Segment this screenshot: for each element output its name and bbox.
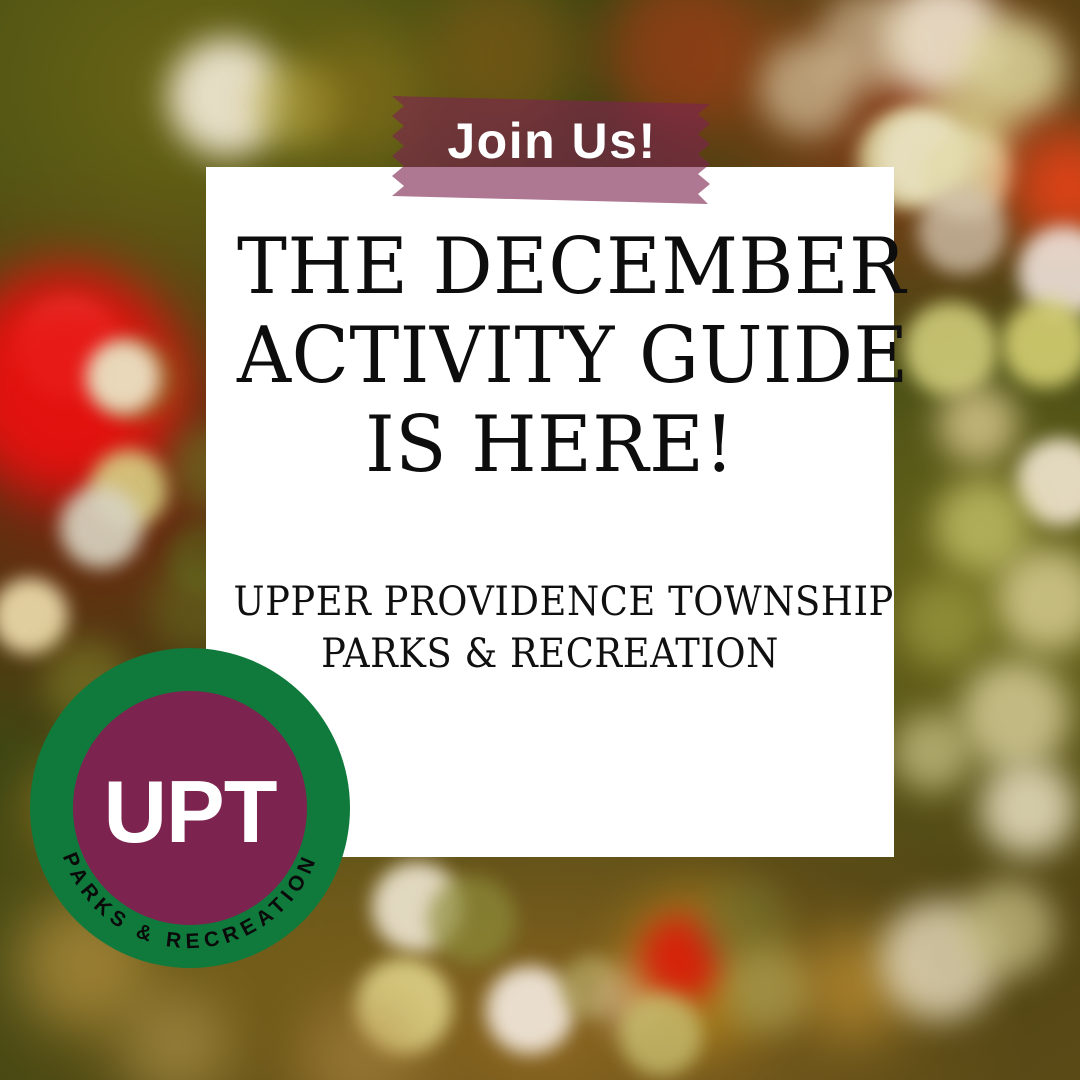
bokeh-circle: [904, 302, 998, 396]
headline-line-1: THE DECEMBER: [237, 223, 863, 312]
card-content: THE DECEMBER ACTIVITY GUIDE IS HERE! UPP…: [206, 223, 894, 680]
bokeh-circle: [918, 186, 1006, 274]
ribbon-label: Join Us!: [378, 112, 726, 170]
bokeh-circle: [428, 876, 516, 964]
bokeh-circle: [86, 340, 160, 414]
bokeh-circle: [0, 578, 68, 654]
bokeh-circle: [60, 486, 142, 568]
bokeh-circle: [980, 760, 1076, 856]
headline-line-3: IS HERE!: [237, 401, 863, 490]
bokeh-circle: [900, 580, 986, 666]
bokeh-circle: [960, 660, 1070, 770]
bokeh-circle: [960, 880, 1056, 976]
bokeh-circle: [120, 990, 230, 1080]
logo-arc-text-wrap: PARKS & RECREATION: [30, 648, 350, 968]
bokeh-circle: [938, 384, 1018, 464]
subhead-line-1: UPPER PROVIDENCE TOWNSHIP: [234, 576, 867, 628]
bokeh-circle: [620, 994, 702, 1076]
bokeh-circle: [1002, 300, 1080, 388]
bokeh-circle: [892, 712, 972, 792]
logo-arc-text-icon: PARKS & RECREATION: [30, 648, 350, 968]
page-title: THE DECEMBER ACTIVITY GUIDE IS HERE!: [220, 223, 880, 490]
upt-logo: UPT PARKS & RECREATION: [30, 648, 350, 968]
logo-arc-text: PARKS & RECREATION: [58, 849, 322, 953]
poster-canvas: THE DECEMBER ACTIVITY GUIDE IS HERE! UPP…: [0, 0, 1080, 1080]
bokeh-circle: [726, 948, 810, 1032]
headline-line-2: ACTIVITY GUIDE: [237, 312, 863, 401]
join-us-ribbon: Join Us!: [378, 92, 726, 208]
